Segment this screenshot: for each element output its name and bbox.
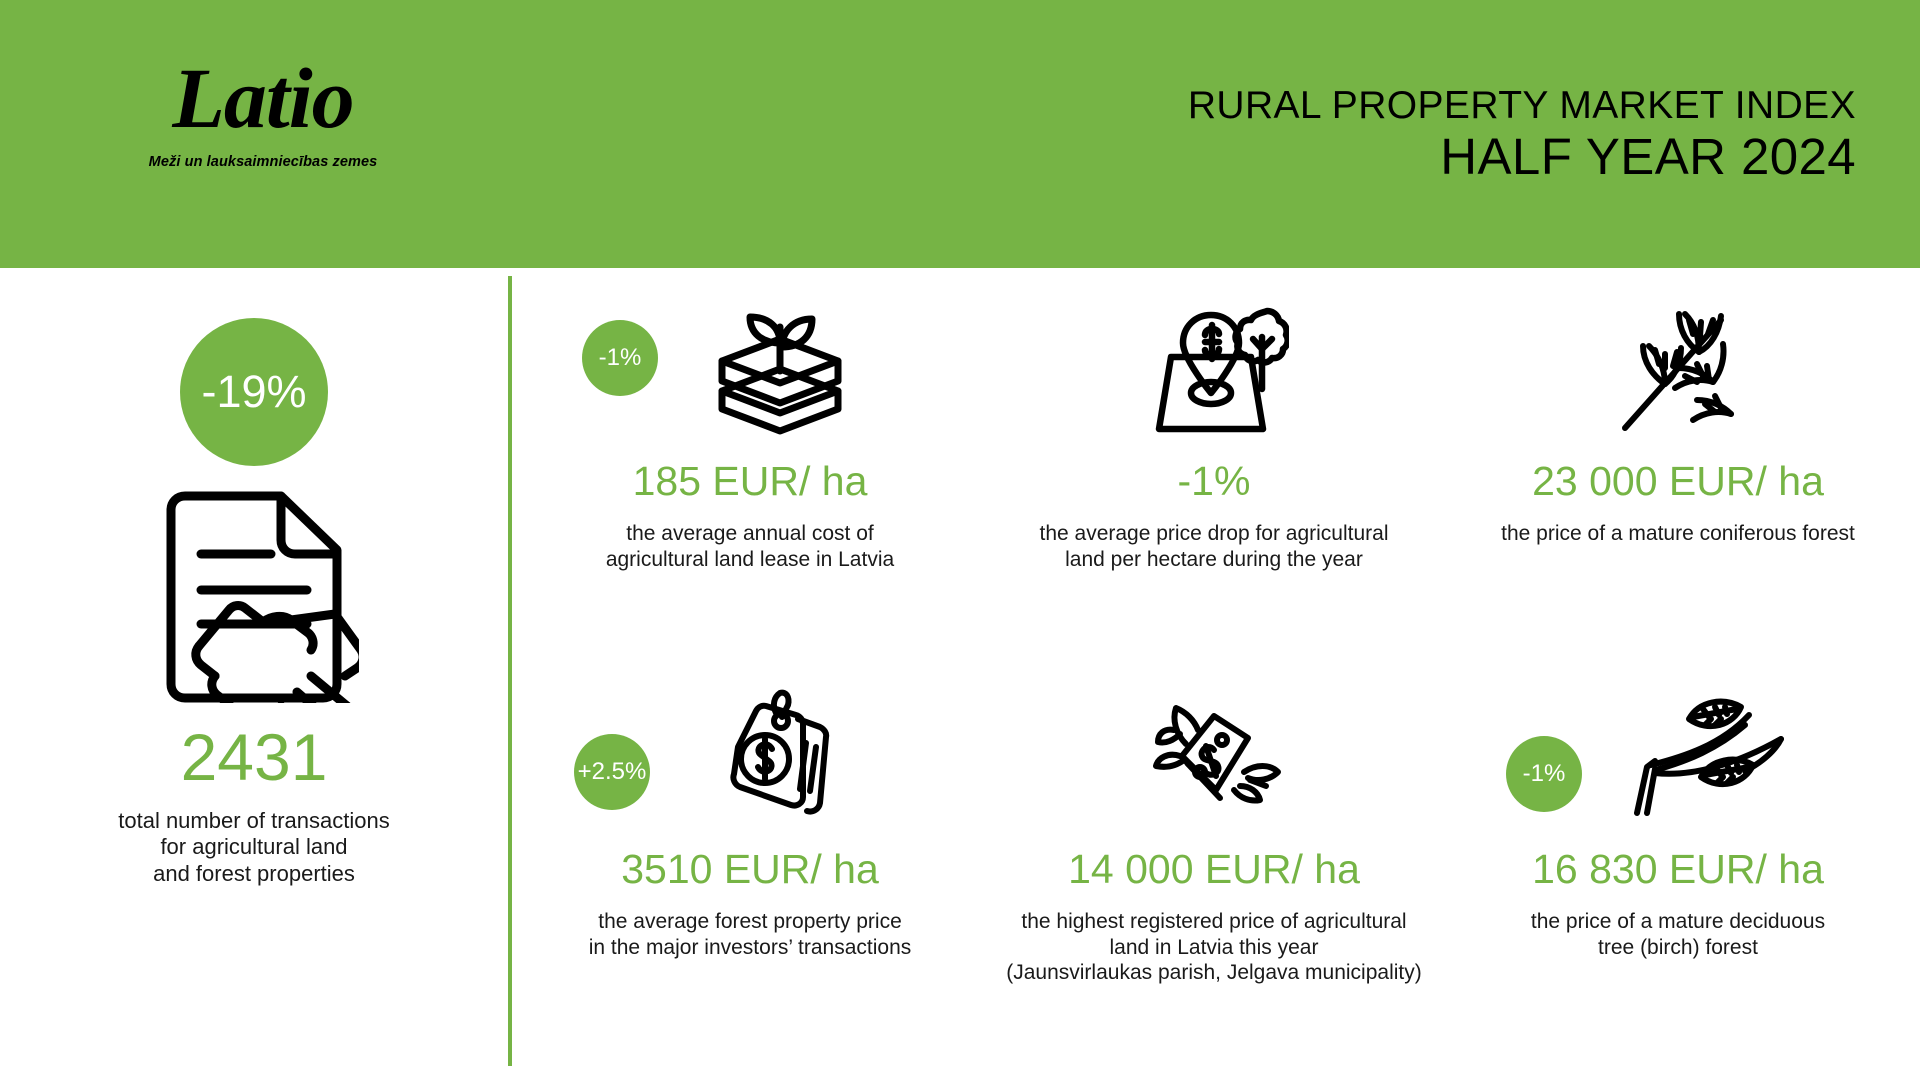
page-title: RURAL PROPERTY MARKET INDEX HALF YEAR 20… <box>1188 86 1856 187</box>
title-line-primary: RURAL PROPERTY MARKET INDEX <box>1188 86 1856 127</box>
stat-value: -1% <box>1178 458 1251 505</box>
stat-caption-line: tree (birch) forest <box>1531 935 1825 961</box>
stat-caption-line: the average annual cost of <box>606 521 894 547</box>
highlight-value: 2431 <box>181 724 328 790</box>
land-plot-price-pin-tree-icon <box>1139 301 1289 446</box>
stat-caption-line: agricultural land lease in Latvia <box>606 547 894 573</box>
winged-money-icon <box>1144 694 1284 829</box>
logo-wordmark: Latio <box>148 58 378 140</box>
stat-caption: the average forest property price in the… <box>589 909 912 960</box>
stat-card-price-drop: -1% the average price drop for agricultu… <box>982 294 1446 682</box>
stat-icon-row: +2.5% <box>526 682 974 840</box>
stat-value: 3510 EUR/ ha <box>621 846 879 893</box>
stat-value: 185 EUR/ ha <box>633 458 868 505</box>
highlight-caption-line: total number of transactions <box>118 808 389 834</box>
stat-icon-row: -1% <box>526 294 974 452</box>
stat-caption-line: land per hectare during the year <box>1039 547 1388 573</box>
stat-caption: the average price drop for agricultural … <box>1039 521 1388 572</box>
document-handshake-icon <box>149 488 359 708</box>
stat-caption-line: the average forest property price <box>589 909 912 935</box>
stat-caption-line: the price of a mature deciduous <box>1531 909 1825 935</box>
stat-icon-row: -1% <box>1454 682 1902 840</box>
page-header: Latio Meži un lauksaimniecības zemes RUR… <box>0 0 1920 268</box>
stat-card-highest-registered-price: 14 000 EUR/ ha the highest registered pr… <box>982 682 1446 1070</box>
stat-caption-line: the average price drop for agricultural <box>1039 521 1388 547</box>
stat-value: 14 000 EUR/ ha <box>1068 846 1360 893</box>
stat-value: 23 000 EUR/ ha <box>1532 458 1824 505</box>
highlight-caption-line: for agricultural land <box>118 834 389 860</box>
price-tags-dollar-icon <box>710 689 850 834</box>
stat-value: 16 830 EUR/ ha <box>1532 846 1824 893</box>
stat-change-badge: -1% <box>1506 736 1582 812</box>
vertical-divider <box>508 276 512 1066</box>
stat-card-deciduous-forest: -1% <box>1446 682 1910 1070</box>
content-area: -19% <box>0 268 1920 1080</box>
stat-caption: the price of a mature coniferous forest <box>1501 521 1855 547</box>
stat-icon-row <box>1454 294 1902 452</box>
stat-caption-line: the highest registered price of agricult… <box>1006 909 1422 935</box>
logo-tagline: Meži un lauksaimniecības zemes <box>148 154 378 170</box>
stat-caption: the price of a mature deciduous tree (bi… <box>1531 909 1825 960</box>
stat-card-coniferous-forest: 23 000 EUR/ ha the price of a mature con… <box>1446 294 1910 682</box>
stat-card-land-lease: -1% 185 EUR/ ha the average annual cost … <box>518 294 982 682</box>
stats-grid: -1% 185 EUR/ ha the average annual cost … <box>508 268 1920 1080</box>
stat-caption: the highest registered price of agricult… <box>1006 909 1422 986</box>
soil-layers-sprout-icon <box>710 305 850 442</box>
stat-change-badge: -1% <box>582 320 658 396</box>
stat-icon-row <box>990 682 1438 840</box>
highlight-panel: -19% <box>0 268 508 1080</box>
stat-caption-line: in the major investors’ transactions <box>589 935 912 961</box>
birch-leaf-branch-icon <box>1625 695 1795 828</box>
highlight-caption-line: and forest properties <box>118 861 389 887</box>
latio-logo: Latio Meži un lauksaimniecības zemes <box>148 58 378 170</box>
stat-card-forest-property-price: +2.5% 3510 EUR/ ha <box>518 682 982 1070</box>
highlight-caption: total number of transactions for agricul… <box>118 808 389 887</box>
stat-caption-line: (Jaunsvirlaukas parish, Jelgava municipa… <box>1006 960 1422 986</box>
conifer-branch-icon <box>1603 306 1753 441</box>
stat-icon-row <box>990 294 1438 452</box>
stat-caption-line: the price of a mature coniferous forest <box>1501 521 1855 547</box>
title-line-period: HALF YEAR 2024 <box>1188 127 1856 187</box>
stat-caption: the average annual cost of agricultural … <box>606 521 894 572</box>
highlight-change-badge: -19% <box>180 318 328 466</box>
stat-caption-line: land in Latvia this year <box>1006 935 1422 961</box>
stat-change-badge: +2.5% <box>574 734 650 810</box>
